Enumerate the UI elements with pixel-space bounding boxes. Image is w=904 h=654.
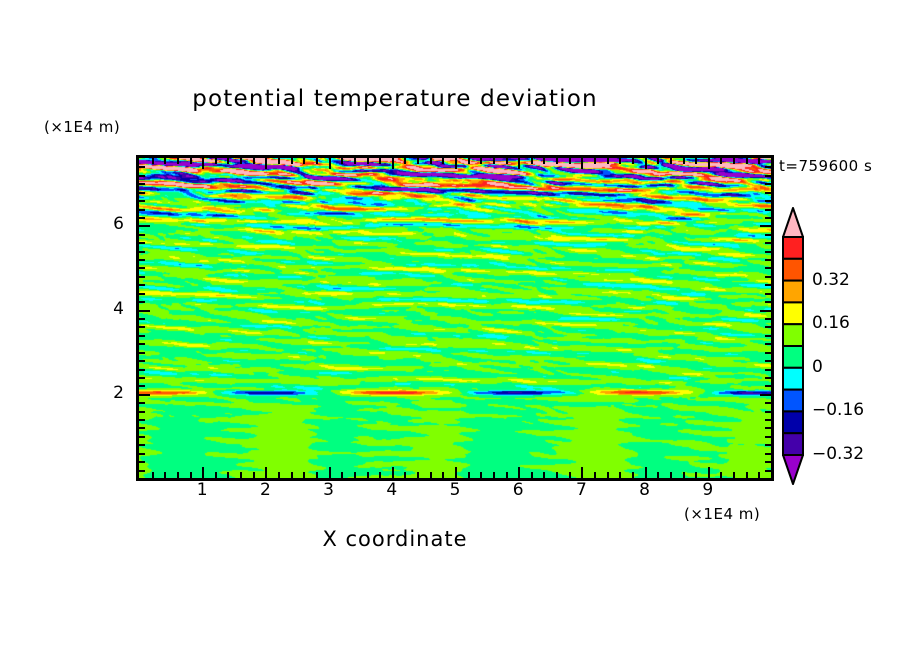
x-tick-bottom	[177, 472, 179, 478]
z-tick-left	[139, 461, 145, 463]
x-tick-label: 2	[250, 480, 280, 500]
z-tick-right	[765, 284, 771, 286]
x-tick-top	[253, 158, 255, 164]
z-tick-left	[139, 352, 145, 354]
x-tick-bottom	[657, 472, 659, 478]
x-tick-bottom	[316, 472, 318, 478]
x-tick-bottom	[493, 472, 495, 478]
x-tick-top	[392, 158, 394, 169]
x-tick-top	[379, 158, 381, 164]
z-tick-left	[139, 377, 145, 379]
x-tick-top	[468, 158, 470, 164]
z-tick-right	[760, 310, 771, 312]
x-tick-bottom	[683, 472, 685, 478]
z-tick-right	[765, 436, 771, 438]
x-tick-bottom	[468, 472, 470, 478]
z-tick-left	[139, 259, 145, 261]
x-tick-bottom	[417, 472, 419, 478]
x-tick-bottom	[581, 467, 583, 478]
z-tick-left	[139, 166, 145, 168]
x-tick-top	[632, 158, 634, 164]
z-tick-left	[139, 276, 145, 278]
x-tick-top	[708, 158, 710, 169]
z-tick-left	[139, 267, 145, 269]
x-tick-top	[518, 158, 520, 169]
x-tick-bottom	[746, 472, 748, 478]
x-tick-top	[683, 158, 685, 164]
heatmap-field	[139, 158, 771, 478]
x-tick-bottom	[152, 472, 154, 478]
x-tick-top	[341, 158, 343, 164]
x-tick-top	[543, 158, 545, 164]
z-tick-right	[765, 377, 771, 379]
x-tick-bottom	[455, 467, 457, 478]
z-tick-right	[765, 419, 771, 421]
x-tick-label: 8	[630, 480, 660, 500]
x-tick-label: 1	[187, 480, 217, 500]
z-tick-left	[139, 234, 145, 236]
z-tick-left	[139, 217, 145, 219]
x-tick-top	[329, 158, 331, 169]
z-tick-right	[765, 293, 771, 295]
x-tick-top	[202, 158, 204, 169]
z-tick-right	[765, 234, 771, 236]
x-tick-top	[442, 158, 444, 164]
x-tick-top	[645, 158, 647, 169]
x-tick-bottom	[531, 472, 533, 478]
z-tick-right	[765, 318, 771, 320]
z-tick-right	[765, 276, 771, 278]
x-tick-top	[556, 158, 558, 164]
contour-plot-area	[136, 155, 774, 481]
z-tick-left	[139, 301, 145, 303]
z-tick-left	[139, 360, 145, 362]
z-tick-right	[765, 200, 771, 202]
x-tick-bottom	[265, 467, 267, 478]
z-tick-right	[765, 470, 771, 472]
x-tick-bottom	[278, 472, 280, 478]
x-tick-label: 9	[693, 480, 723, 500]
x-tick-bottom	[645, 467, 647, 478]
x-axis-title: X coordinate	[0, 527, 790, 551]
x-tick-bottom	[594, 472, 596, 478]
z-tick-left	[139, 369, 145, 371]
x-tick-bottom	[720, 472, 722, 478]
x-tick-top	[581, 158, 583, 169]
x-tick-bottom	[354, 472, 356, 478]
colorbar-tick-label: 0.16	[812, 313, 850, 333]
z-tick-left	[139, 444, 145, 446]
z-tick-right	[765, 267, 771, 269]
x-tick-label: 6	[503, 480, 533, 500]
x-tick-bottom	[543, 472, 545, 478]
x-tick-top	[278, 158, 280, 164]
z-tick-left	[139, 310, 150, 312]
x-tick-top	[265, 158, 267, 169]
z-tick-left	[139, 335, 145, 337]
x-tick-top	[190, 158, 192, 164]
z-tick-left	[139, 402, 145, 404]
x-tick-top	[531, 158, 533, 164]
z-tick-left	[139, 343, 145, 345]
z-tick-right	[765, 242, 771, 244]
x-tick-bottom	[670, 472, 672, 478]
z-tick-left	[139, 284, 145, 286]
x-tick-bottom	[430, 472, 432, 478]
x-tick-top	[240, 158, 242, 164]
page-title: potential temperature deviation	[0, 86, 790, 112]
x-tick-bottom	[240, 472, 242, 478]
x-tick-top	[619, 158, 621, 164]
z-tick-label: 6	[100, 214, 124, 234]
z-tick-right	[765, 461, 771, 463]
x-tick-bottom	[569, 472, 571, 478]
colorbar-tick-label: −0.16	[812, 400, 864, 420]
x-tick-bottom	[733, 472, 735, 478]
x-tick-top	[291, 158, 293, 164]
x-tick-bottom	[518, 467, 520, 478]
z-tick-label: 4	[100, 299, 124, 319]
z-tick-left	[139, 242, 145, 244]
z-tick-right	[765, 343, 771, 345]
x-tick-top	[164, 158, 166, 164]
z-tick-right	[765, 444, 771, 446]
z-tick-left	[139, 175, 145, 177]
z-tick-right	[765, 166, 771, 168]
z-tick-right	[765, 251, 771, 253]
z-tick-right	[765, 326, 771, 328]
z-tick-left	[139, 326, 145, 328]
z-tick-left	[139, 209, 145, 211]
z-tick-left	[139, 192, 145, 194]
z-tick-right	[765, 301, 771, 303]
x-axis-units-label: (×1E4 m)	[684, 505, 760, 523]
x-tick-bottom	[404, 472, 406, 478]
x-tick-bottom	[556, 472, 558, 478]
z-tick-right	[765, 209, 771, 211]
x-tick-bottom	[379, 472, 381, 478]
z-tick-left	[139, 411, 145, 413]
colorbar	[782, 207, 804, 485]
z-tick-left	[139, 183, 145, 185]
z-tick-left	[139, 453, 145, 455]
z-tick-right	[765, 259, 771, 261]
z-tick-left	[139, 225, 150, 227]
z-tick-right	[765, 411, 771, 413]
x-tick-top	[720, 158, 722, 164]
x-tick-top	[506, 158, 508, 164]
z-tick-left	[139, 419, 145, 421]
z-tick-right	[765, 385, 771, 387]
x-tick-top	[758, 158, 760, 164]
z-tick-right	[765, 175, 771, 177]
z-tick-label: 2	[100, 383, 124, 403]
x-tick-bottom	[215, 472, 217, 478]
x-tick-top	[227, 158, 229, 164]
x-tick-top	[417, 158, 419, 164]
x-tick-bottom	[506, 472, 508, 478]
x-tick-bottom	[695, 472, 697, 478]
x-tick-bottom	[227, 472, 229, 478]
x-tick-bottom	[619, 472, 621, 478]
z-tick-left	[139, 200, 145, 202]
z-tick-right	[760, 225, 771, 227]
z-tick-left	[139, 436, 145, 438]
z-tick-right	[765, 369, 771, 371]
x-tick-bottom	[632, 472, 634, 478]
x-tick-top	[177, 158, 179, 164]
x-tick-bottom	[708, 467, 710, 478]
z-tick-right	[765, 335, 771, 337]
x-tick-bottom	[392, 467, 394, 478]
z-tick-right	[765, 352, 771, 354]
x-tick-bottom	[202, 467, 204, 478]
x-tick-top	[746, 158, 748, 164]
x-tick-bottom	[442, 472, 444, 478]
x-tick-top	[303, 158, 305, 164]
x-tick-top	[493, 158, 495, 164]
x-tick-label: 7	[566, 480, 596, 500]
x-tick-top	[367, 158, 369, 164]
timestamp-annotation: t=759600 s	[779, 157, 872, 175]
z-tick-right	[760, 394, 771, 396]
x-tick-bottom	[607, 472, 609, 478]
x-tick-top	[569, 158, 571, 164]
z-tick-left	[139, 385, 145, 387]
x-tick-label: 5	[440, 480, 470, 500]
z-tick-right	[765, 427, 771, 429]
z-tick-right	[765, 360, 771, 362]
z-tick-left	[139, 251, 145, 253]
x-tick-top	[316, 158, 318, 164]
x-tick-top	[670, 158, 672, 164]
x-tick-label: 3	[314, 480, 344, 500]
x-tick-top	[215, 158, 217, 164]
x-tick-top	[404, 158, 406, 164]
x-tick-top	[430, 158, 432, 164]
z-tick-left	[139, 318, 145, 320]
x-tick-bottom	[190, 472, 192, 478]
z-tick-right	[765, 192, 771, 194]
x-tick-bottom	[341, 472, 343, 478]
z-tick-right	[765, 402, 771, 404]
x-tick-top	[455, 158, 457, 169]
x-tick-top	[657, 158, 659, 164]
z-tick-right	[765, 183, 771, 185]
z-axis-units-label: (×1E4 m)	[44, 118, 120, 136]
x-tick-top	[594, 158, 596, 164]
x-tick-top	[480, 158, 482, 164]
colorbar-tick-label: 0.32	[812, 270, 850, 290]
z-tick-left	[139, 470, 145, 472]
z-tick-left	[139, 293, 145, 295]
x-tick-bottom	[303, 472, 305, 478]
x-tick-bottom	[367, 472, 369, 478]
x-tick-bottom	[758, 472, 760, 478]
x-tick-top	[607, 158, 609, 164]
colorbar-swatches	[782, 207, 804, 485]
x-tick-bottom	[253, 472, 255, 478]
x-tick-top	[733, 158, 735, 164]
x-tick-bottom	[480, 472, 482, 478]
colorbar-tick-label: −0.32	[812, 444, 864, 464]
x-tick-top	[152, 158, 154, 164]
x-tick-bottom	[164, 472, 166, 478]
x-tick-bottom	[329, 467, 331, 478]
z-tick-right	[765, 453, 771, 455]
colorbar-tick-label: 0	[812, 357, 823, 377]
x-tick-top	[354, 158, 356, 164]
z-tick-left	[139, 427, 145, 429]
x-tick-bottom	[291, 472, 293, 478]
z-tick-right	[765, 217, 771, 219]
z-tick-left	[139, 394, 150, 396]
x-tick-top	[695, 158, 697, 164]
x-tick-label: 4	[377, 480, 407, 500]
